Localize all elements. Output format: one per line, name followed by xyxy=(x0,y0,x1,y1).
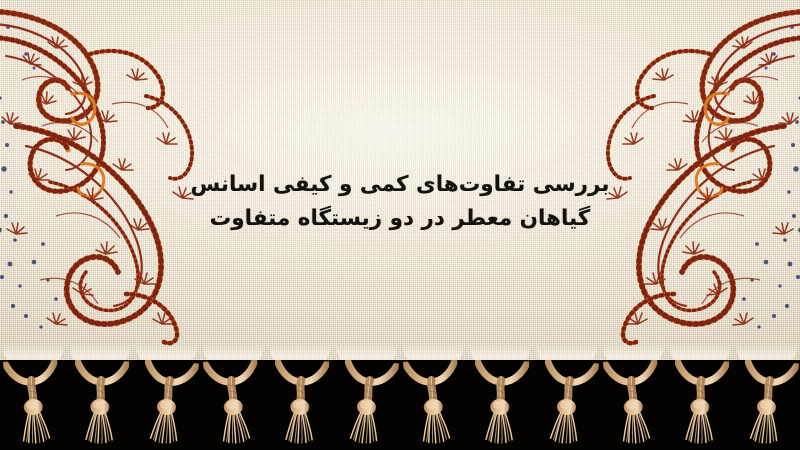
tassel xyxy=(135,360,199,449)
tassel xyxy=(603,360,663,448)
tassel xyxy=(3,360,63,448)
tassel xyxy=(471,360,529,447)
tassel xyxy=(671,360,729,447)
tassel xyxy=(735,360,799,449)
title-line-1: بررسی تفاوت‌های کمی و کیفی اسانس xyxy=(0,168,800,202)
title-line-2: گیاهان معطر در دو زیستگاه متفاوت xyxy=(0,202,800,236)
tassel xyxy=(271,360,329,447)
tassel xyxy=(535,360,599,449)
tassel-fringe xyxy=(0,360,800,450)
slide-title: بررسی تفاوت‌های کمی و کیفی اسانس گیاهان … xyxy=(0,168,800,236)
tassel xyxy=(335,360,399,449)
tassel xyxy=(203,360,263,448)
tassel xyxy=(403,360,463,448)
title-slide: بررسی تفاوت‌های کمی و کیفی اسانس گیاهان … xyxy=(0,0,800,450)
tassel xyxy=(71,360,129,447)
